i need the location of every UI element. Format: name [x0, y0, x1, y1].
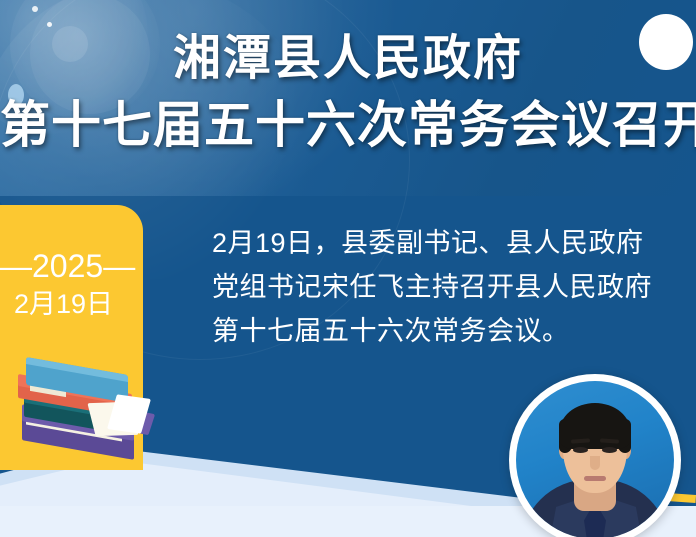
avatar-photo	[516, 381, 674, 537]
body-text-line-2: 党组书记宋任飞主持召开县人民政府	[212, 265, 672, 309]
body-text-line-3: 第十七届五十六次常务会议。	[212, 309, 672, 353]
book-stack-icon	[8, 358, 168, 478]
avatar-eye-right	[602, 447, 617, 453]
title-line-2: 第十七届五十六次常务会议召开	[0, 100, 696, 150]
date-year-label: —2025—	[0, 250, 127, 284]
page-title: 湘潭县人民政府 第十七届五十六次常务会议召开	[0, 34, 696, 150]
date-day-label: 2月19日	[0, 290, 127, 320]
date-card-content: —2025— 2月19日	[0, 250, 127, 319]
avatar-nose	[590, 456, 600, 470]
avatar-mouth	[584, 476, 606, 481]
bokeh-sparkle-2-icon	[47, 22, 52, 27]
avatar	[509, 374, 681, 537]
bokeh-sparkle-1-icon	[32, 6, 38, 12]
avatar-eye-left	[573, 447, 588, 453]
avatar-hair	[559, 403, 631, 449]
poster-canvas: 湘潭县人民政府 第十七届五十六次常务会议召开 —2025— 2月19日 2月19…	[0, 0, 696, 537]
body-text-line-1: 2月19日，县委副书记、县人民政府	[212, 221, 672, 265]
body-text-block: 2月19日，县委副书记、县人民政府 党组书记宋任飞主持召开县人民政府 第十七届五…	[212, 221, 672, 353]
title-line-1: 湘潭县人民政府	[0, 34, 696, 82]
